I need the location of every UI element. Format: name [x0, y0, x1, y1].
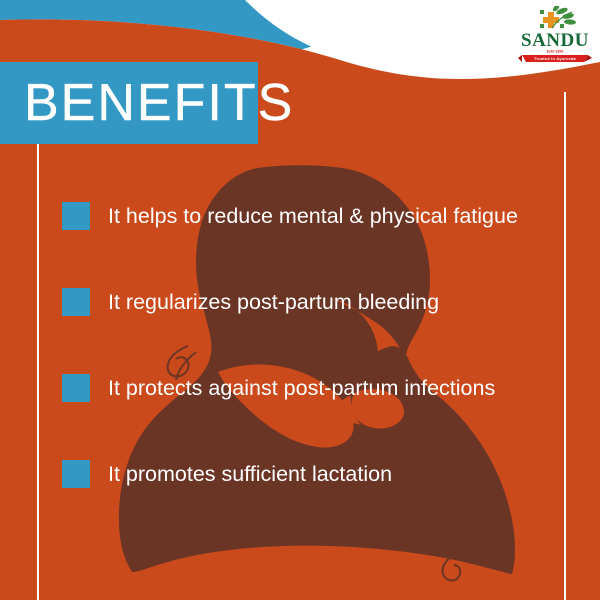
benefit-text: It regularizes post-partum bleeding — [108, 290, 439, 315]
right-vertical-rule — [564, 92, 566, 600]
logo-established: Estd 1899 — [547, 50, 564, 54]
benefits-list: It helps to reduce mental & physical fat… — [62, 194, 562, 496]
blue-square-bullet-icon — [62, 460, 90, 488]
list-item: It regularizes post-partum bleeding — [62, 280, 562, 324]
left-vertical-rule — [37, 144, 39, 600]
logo-tagline: Trusted in Ayurveda — [534, 56, 577, 61]
leaf-cross-emblem — [540, 6, 576, 28]
benefit-text: It helps to reduce mental & physical fat… — [108, 204, 518, 229]
blue-square-bullet-icon — [62, 288, 90, 316]
blue-square-bullet-icon — [62, 374, 90, 402]
logo-wordmark: SANDU — [521, 30, 589, 51]
benefit-text: It protects against post-partum infectio… — [108, 376, 495, 401]
sandu-logo: SANDU Estd 1899 Trusted in Ayurveda — [518, 6, 592, 64]
list-item: It protects against post-partum infectio… — [62, 366, 562, 410]
page-title: BENEFITS — [24, 77, 294, 129]
benefit-text: It promotes sufficient lactation — [108, 462, 392, 487]
blue-square-bullet-icon — [62, 202, 90, 230]
list-item: It promotes sufficient lactation — [62, 452, 562, 496]
list-item: It helps to reduce mental & physical fat… — [62, 194, 562, 238]
benefits-banner: BENEFITS — [0, 62, 258, 144]
benefits-poster: BENEFITS It helps to reduce mental & phy… — [0, 0, 600, 600]
